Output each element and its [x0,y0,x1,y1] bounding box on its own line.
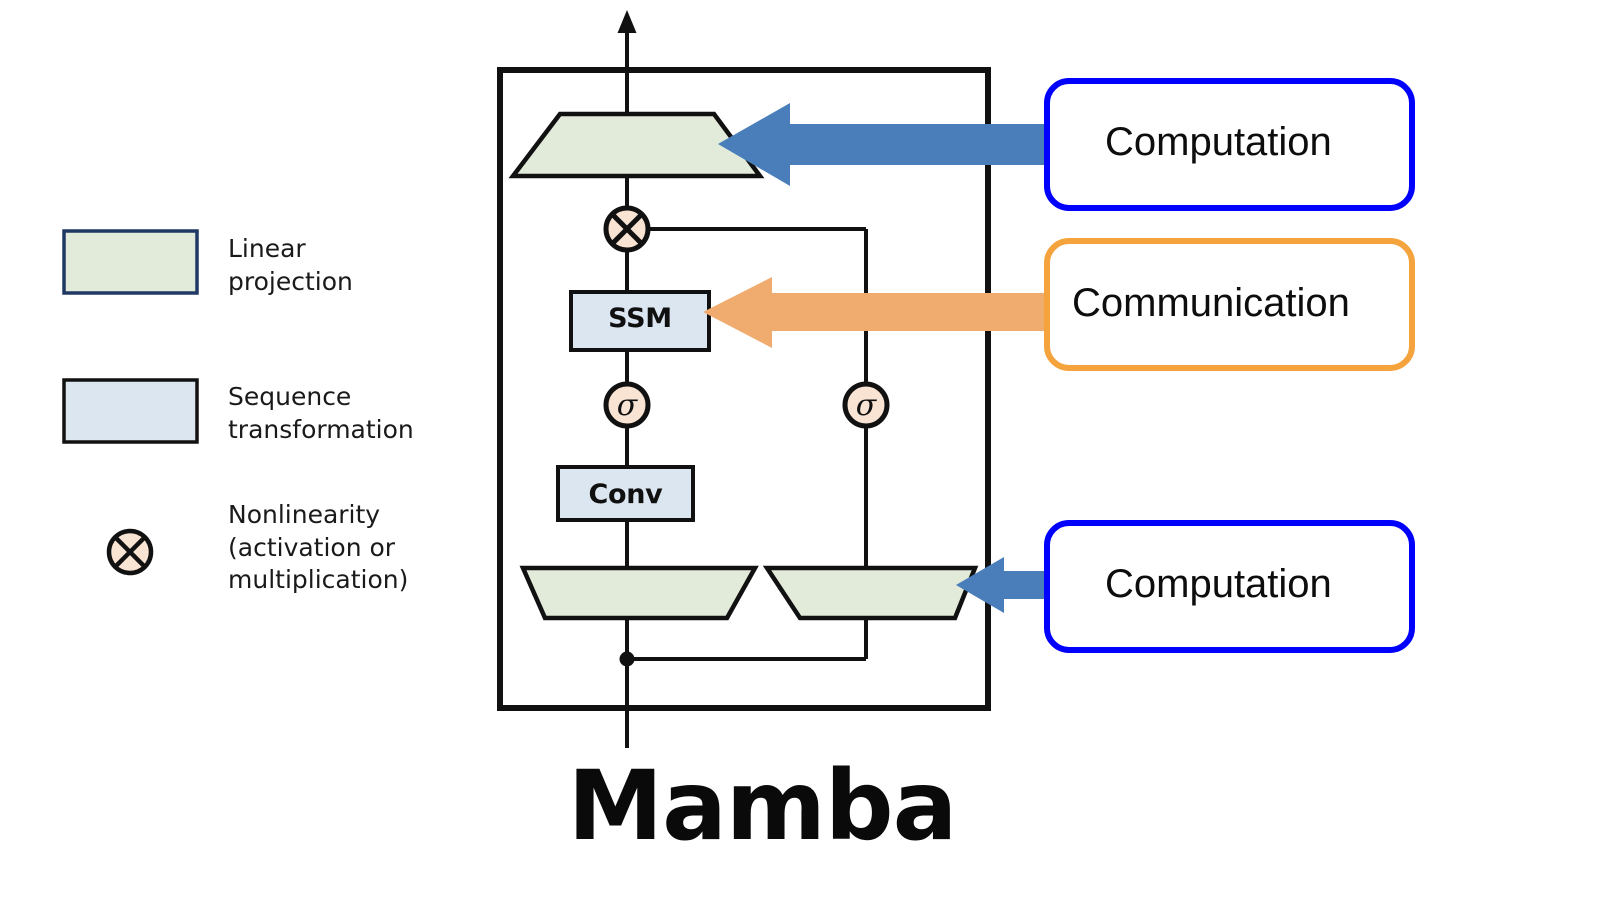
callout-arrow-computation-top [718,103,1046,186]
callout-arrow-communication [703,277,1046,348]
conv-block-label: Conv [558,479,693,510]
sigma-right-label: σ [842,388,890,423]
legend-swatch-linear-projection [64,231,197,293]
legend-label-sequence-transformation: Sequence transformation [228,381,508,446]
callout-label-computation-bottom: Computation [1105,562,1332,607]
legend-label-linear-projection: Linear projection [228,233,488,298]
ssm-block-label: SSM [571,303,709,334]
multiply-node-icon [606,208,648,250]
wire-junction-dot [620,652,635,667]
diagram-canvas: Linear projection Sequence transformatio… [0,0,1600,905]
output-arrowhead-icon [618,10,637,33]
callout-label-communication: Communication [1072,281,1350,326]
legend-label-nonlinearity: Nonlinearity (activation or multiplicati… [228,499,528,597]
input-linear-projection-right [767,568,975,618]
callout-label-computation-top: Computation [1105,120,1332,165]
callout-arrow-computation-bottom [956,557,1046,613]
legend-swatch-nonlinearity-icon [109,531,151,573]
sigma-left-label: σ [603,388,651,423]
page-title: Mamba [0,750,1562,862]
input-linear-projection-left [523,568,755,618]
legend-swatch-sequence-transformation [64,380,197,442]
